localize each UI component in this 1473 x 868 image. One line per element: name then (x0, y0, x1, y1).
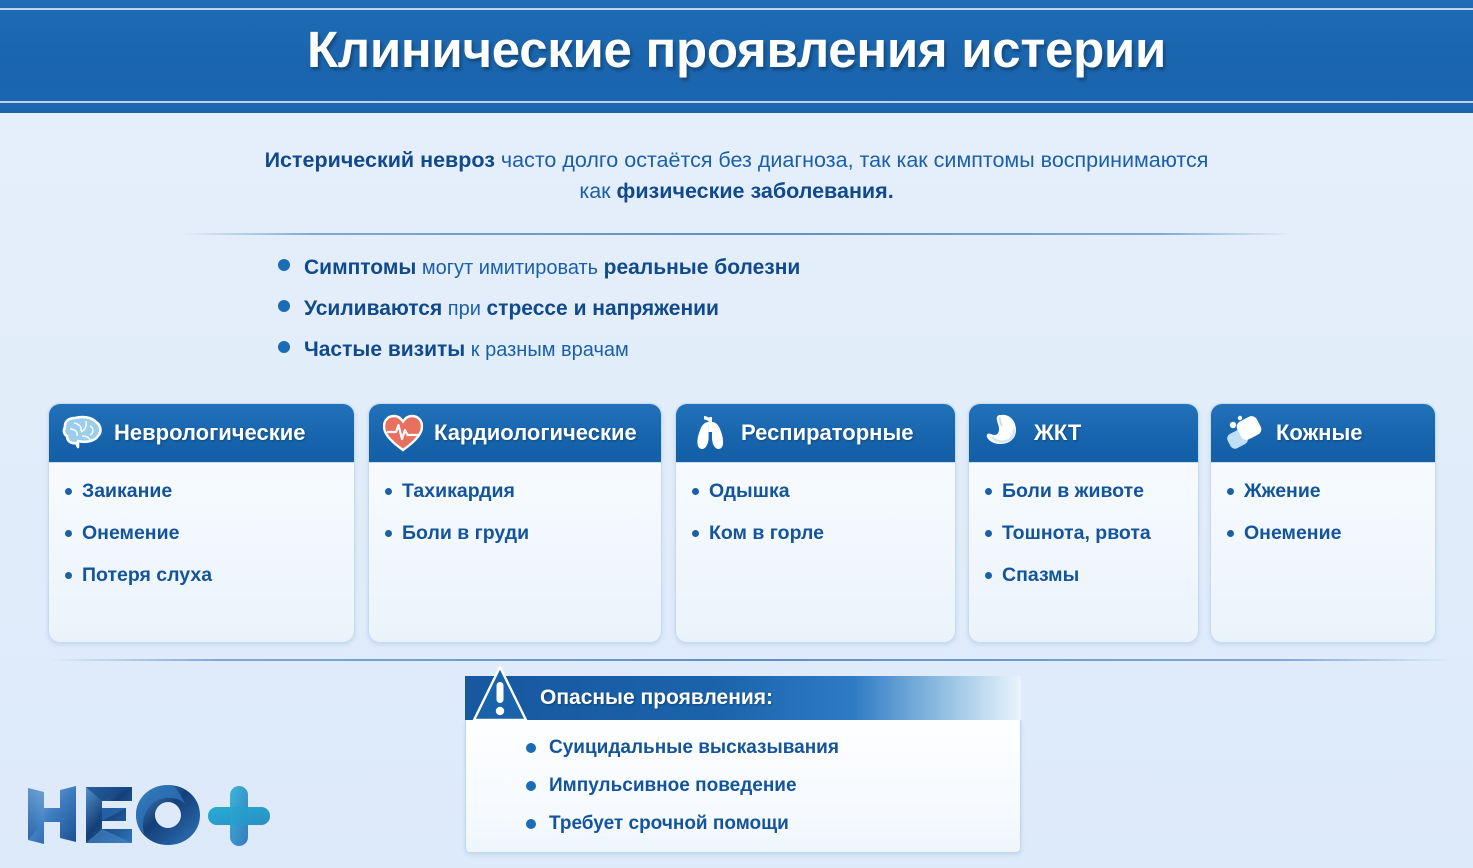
bullet-dot-icon (526, 781, 536, 791)
card-body: Боли в животе Тошнота, рвота Спазмы (969, 463, 1198, 615)
card-item-label: Спазмы (1002, 563, 1079, 588)
key-point-mid: при (442, 298, 486, 320)
danger-list-item: Требует срочной помощи (526, 812, 1002, 836)
danger-callout: Опасные проявления: Суицидальные высказы… (465, 676, 1021, 853)
bullet-dot-icon (1227, 488, 1234, 495)
key-point-bold2: реальные болезни (604, 256, 801, 279)
key-point-tail: к разным врачам (471, 339, 629, 361)
danger-callout-header: Опасные проявления: (465, 676, 1021, 720)
card-title: Неврологические (114, 420, 306, 446)
card-item-label: Онемение (82, 521, 179, 546)
brain-icon (61, 412, 105, 454)
intro-line2-pre: как (579, 179, 616, 203)
danger-item-label: Импульсивное поведение (549, 774, 797, 798)
card-item-label: Боли в животе (1002, 479, 1144, 504)
card-list-item: Жжение (1227, 479, 1425, 504)
bullet-dot-icon (526, 819, 536, 829)
symptom-card-gastrointestinal[interactable]: ЖКТ Боли в животе Тошнота, рвота Спазмы (968, 403, 1199, 643)
card-item-label: Онемение (1244, 521, 1341, 546)
symptom-card-skin[interactable]: Кожные Жжение Онемение (1210, 403, 1436, 643)
card-list-item: Тошнота, рвота (985, 521, 1188, 546)
card-list-item: Заикание (65, 479, 344, 504)
card-item-label: Тошнота, рвота (1002, 521, 1151, 546)
key-points-list: Симптомы могут имитировать реальные боле… (278, 255, 1178, 378)
card-title: Респираторные (741, 420, 913, 446)
card-header: Кардиологические (369, 404, 661, 463)
card-body: Заикание Онемение Потеря слуха (49, 463, 354, 615)
card-list-item: Спазмы (985, 563, 1188, 588)
heart-ecg-icon (381, 412, 425, 454)
card-list-item: Тахикардия (385, 479, 651, 504)
key-point-bold: Симптомы (304, 256, 416, 279)
bullet-dot-icon (385, 488, 392, 495)
key-point-item: Симптомы могут имитировать реальные боле… (278, 255, 1178, 281)
stomach-icon (981, 412, 1025, 454)
card-list-item: Ком в горле (692, 521, 945, 546)
skin-patch-icon (1223, 412, 1267, 454)
bullet-dot-icon (65, 530, 72, 537)
header-edge-band (0, 110, 1473, 113)
danger-item-label: Требует срочной помощи (549, 812, 789, 836)
danger-callout-title: Опасные проявления: (540, 686, 773, 710)
symptom-card-respiratory[interactable]: Респираторные Одышка Ком в горле (675, 403, 956, 643)
card-list-item: Онемение (65, 521, 344, 546)
bullet-dot-icon (278, 259, 290, 271)
symptom-card-neurological[interactable]: Неврологические Заикание Онемение Потеря… (48, 403, 355, 643)
card-body: Жжение Онемение (1211, 463, 1435, 573)
bullet-dot-icon (692, 488, 699, 495)
bullet-dot-icon (278, 300, 290, 312)
card-list-item: Потеря слуха (65, 563, 344, 588)
bullet-dot-icon (985, 572, 992, 579)
brand-logo (22, 780, 272, 850)
key-point-bold: Усиливаются (304, 297, 442, 320)
bullet-dot-icon (526, 743, 536, 753)
danger-item-label: Суицидальные высказывания (549, 736, 839, 760)
card-item-label: Потеря слуха (82, 563, 212, 588)
danger-list-item: Суицидальные высказывания (526, 736, 1002, 760)
header-rule-bottom (0, 101, 1473, 103)
danger-callout-body: Суицидальные высказывания Импульсивное п… (465, 720, 1021, 853)
divider-bottom (48, 659, 1453, 661)
intro-paragraph: Истерический невроз часто долго остаётся… (180, 145, 1293, 207)
header-rule-top (0, 8, 1473, 10)
intro-line2-bold: физические заболевания. (617, 179, 894, 203)
intro-line1-rest: часто долго остаётся без диагноза, так к… (495, 148, 1208, 172)
page-header: Клинические проявления истерии (0, 0, 1473, 113)
card-title: Кожные (1276, 420, 1363, 446)
bullet-dot-icon (692, 530, 699, 537)
symptom-card-cardiological[interactable]: Кардиологические Тахикардия Боли в груди (368, 403, 662, 643)
bullet-dot-icon (65, 572, 72, 579)
key-point-bold2: стрессе и напряжении (487, 297, 719, 320)
card-title: ЖКТ (1034, 420, 1081, 446)
lungs-icon (688, 412, 732, 454)
card-header: Кожные (1211, 404, 1435, 463)
divider-top (180, 233, 1293, 235)
danger-list-item: Импульсивное поведение (526, 774, 1002, 798)
card-item-label: Заикание (82, 479, 172, 504)
key-point-bold: Частые визиты (304, 338, 465, 361)
card-header: Неврологические (49, 404, 354, 463)
bullet-dot-icon (985, 488, 992, 495)
card-body: Одышка Ком в горле (676, 463, 955, 573)
card-list-item: Боли в груди (385, 521, 651, 546)
warning-triangle-icon (470, 664, 542, 726)
page-title: Клинические проявления истерии (0, 20, 1473, 79)
key-point-item: Частые визиты к разным врачам (278, 337, 1178, 363)
bullet-dot-icon (985, 530, 992, 537)
bullet-dot-icon (278, 341, 290, 353)
card-list-item: Боли в животе (985, 479, 1188, 504)
card-item-label: Ком в горле (709, 521, 824, 546)
card-list-item: Одышка (692, 479, 945, 504)
card-body: Тахикардия Боли в груди (369, 463, 661, 573)
card-item-label: Боли в груди (402, 521, 529, 546)
card-list-item: Онемение (1227, 521, 1425, 546)
card-item-label: Одышка (709, 479, 790, 504)
card-header: Респираторные (676, 404, 955, 463)
bullet-dot-icon (1227, 530, 1234, 537)
card-item-label: Жжение (1244, 479, 1321, 504)
card-item-label: Тахикардия (402, 479, 515, 504)
intro-lead-bold: Истерический невроз (265, 148, 495, 172)
card-header: ЖКТ (969, 404, 1198, 463)
key-point-item: Усиливаются при стрессе и напряжении (278, 296, 1178, 322)
card-title: Кардиологические (434, 420, 637, 446)
bullet-dot-icon (385, 530, 392, 537)
symptom-cards-row: Неврологические Заикание Онемение Потеря… (48, 403, 1436, 643)
bullet-dot-icon (65, 488, 72, 495)
key-point-mid: могут имитировать (416, 257, 603, 279)
